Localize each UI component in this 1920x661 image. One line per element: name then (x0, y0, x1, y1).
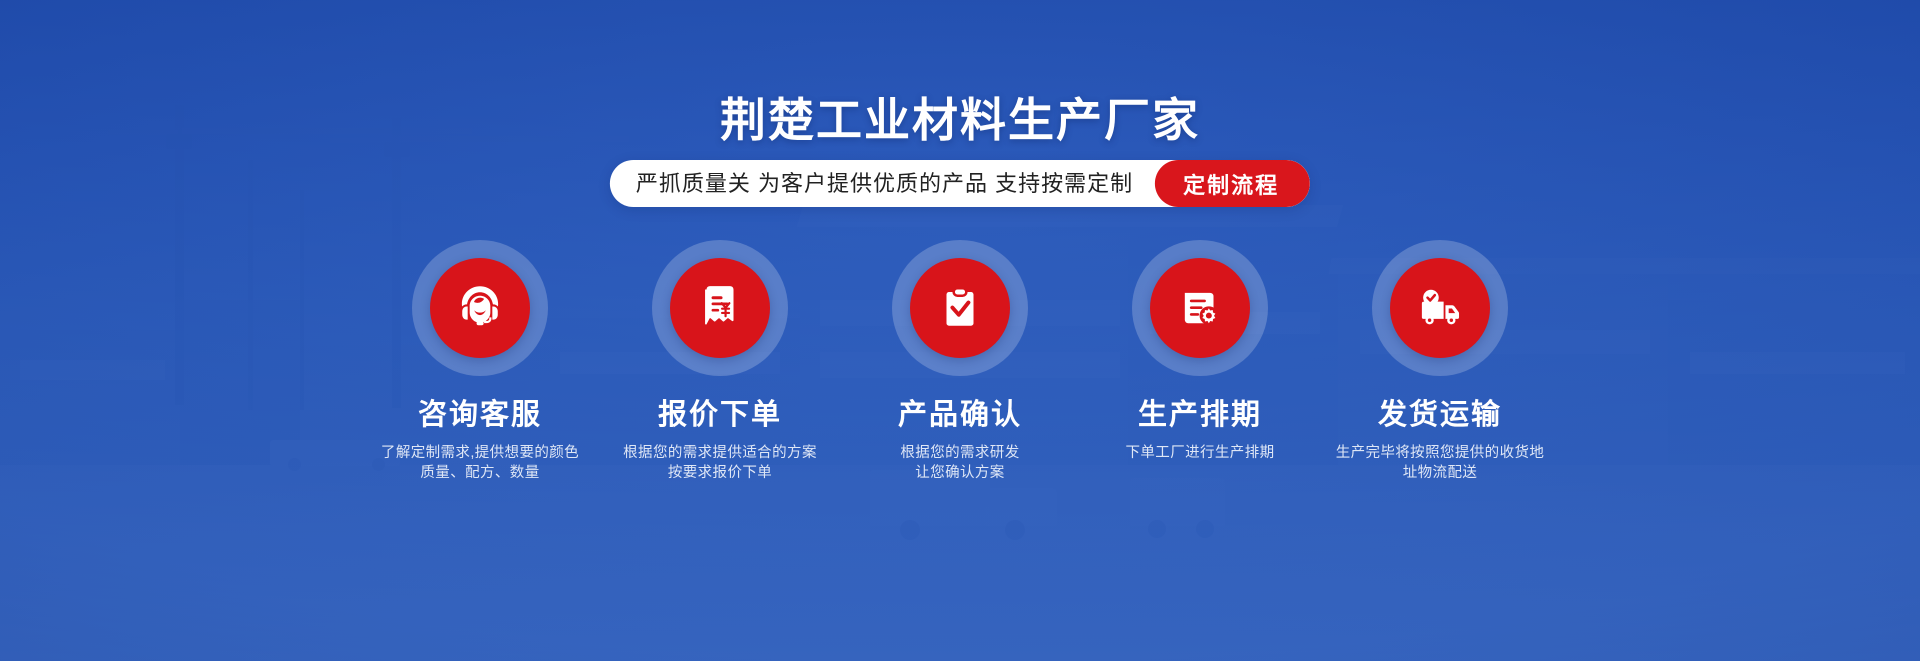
icon-halo (1372, 240, 1508, 376)
icon-disc (670, 258, 770, 358)
icon-halo (892, 240, 1028, 376)
slogan-text: 严抓质量关 为客户提供优质的产品 支持按需定制 (636, 160, 1155, 207)
step-desc-line: 生产完毕将按照您提供的收货地 (1320, 443, 1560, 463)
icon-disc (1390, 258, 1490, 358)
promo-banner: 荆楚工业材料生产厂家 严抓质量关 为客户提供优质的产品 支持按需定制 定制流程 (0, 0, 1920, 661)
process-step[interactable]: 发货运输 生产完毕将按照您提供的收货地 址物流配送 (1320, 240, 1560, 483)
quote-invoice-yuan-icon (693, 281, 747, 335)
banner-content: 荆楚工业材料生产厂家 严抓质量关 为客户提供优质的产品 支持按需定制 定制流程 (0, 0, 1920, 661)
step-description: 生产完毕将按照您提供的收货地 址物流配送 (1320, 443, 1560, 483)
step-description: 了解定制需求,提供想要的颜色 质量、配方、数量 (360, 443, 600, 483)
process-step[interactable]: 生产排期 下单工厂进行生产排期 (1080, 240, 1320, 483)
icon-halo (652, 240, 788, 376)
step-description: 根据您的需求研发 让您确认方案 (840, 443, 1080, 483)
slogan-pill-bar: 严抓质量关 为客户提供优质的产品 支持按需定制 定制流程 (610, 160, 1310, 207)
step-title: 发货运输 (1320, 396, 1560, 434)
step-title: 产品确认 (840, 396, 1080, 434)
step-desc-line: 下单工厂进行生产排期 (1080, 443, 1320, 463)
step-desc-line: 质量、配方、数量 (360, 463, 600, 483)
icon-halo (1132, 240, 1268, 376)
step-description: 根据您的需求提供适合的方案 按要求报价下单 (600, 443, 840, 483)
document-gear-icon (1173, 281, 1227, 335)
custom-process-button[interactable]: 定制流程 (1155, 160, 1310, 207)
step-desc-line: 根据您的需求研发 (840, 443, 1080, 463)
delivery-truck-check-icon (1411, 279, 1469, 337)
icon-halo (412, 240, 548, 376)
process-steps: 咨询客服 了解定制需求,提供想要的颜色 质量、配方、数量 (360, 240, 1560, 483)
step-desc-line: 让您确认方案 (840, 463, 1080, 483)
process-step[interactable]: 产品确认 根据您的需求研发 让您确认方案 (840, 240, 1080, 483)
clipboard-check-icon (933, 281, 987, 335)
step-desc-line: 址物流配送 (1320, 463, 1560, 483)
process-step[interactable]: 咨询客服 了解定制需求,提供想要的颜色 质量、配方、数量 (360, 240, 600, 483)
headset-support-icon (451, 279, 509, 337)
icon-disc (430, 258, 530, 358)
step-title: 咨询客服 (360, 396, 600, 434)
step-description: 下单工厂进行生产排期 (1080, 443, 1320, 463)
icon-disc (1150, 258, 1250, 358)
icon-disc (910, 258, 1010, 358)
page-title: 荆楚工业材料生产厂家 (0, 91, 1920, 149)
step-title: 报价下单 (600, 396, 840, 434)
step-title: 生产排期 (1080, 396, 1320, 434)
step-desc-line: 根据您的需求提供适合的方案 (600, 443, 840, 463)
process-step[interactable]: 报价下单 根据您的需求提供适合的方案 按要求报价下单 (600, 240, 840, 483)
step-desc-line: 了解定制需求,提供想要的颜色 (360, 443, 600, 463)
step-desc-line: 按要求报价下单 (600, 463, 840, 483)
